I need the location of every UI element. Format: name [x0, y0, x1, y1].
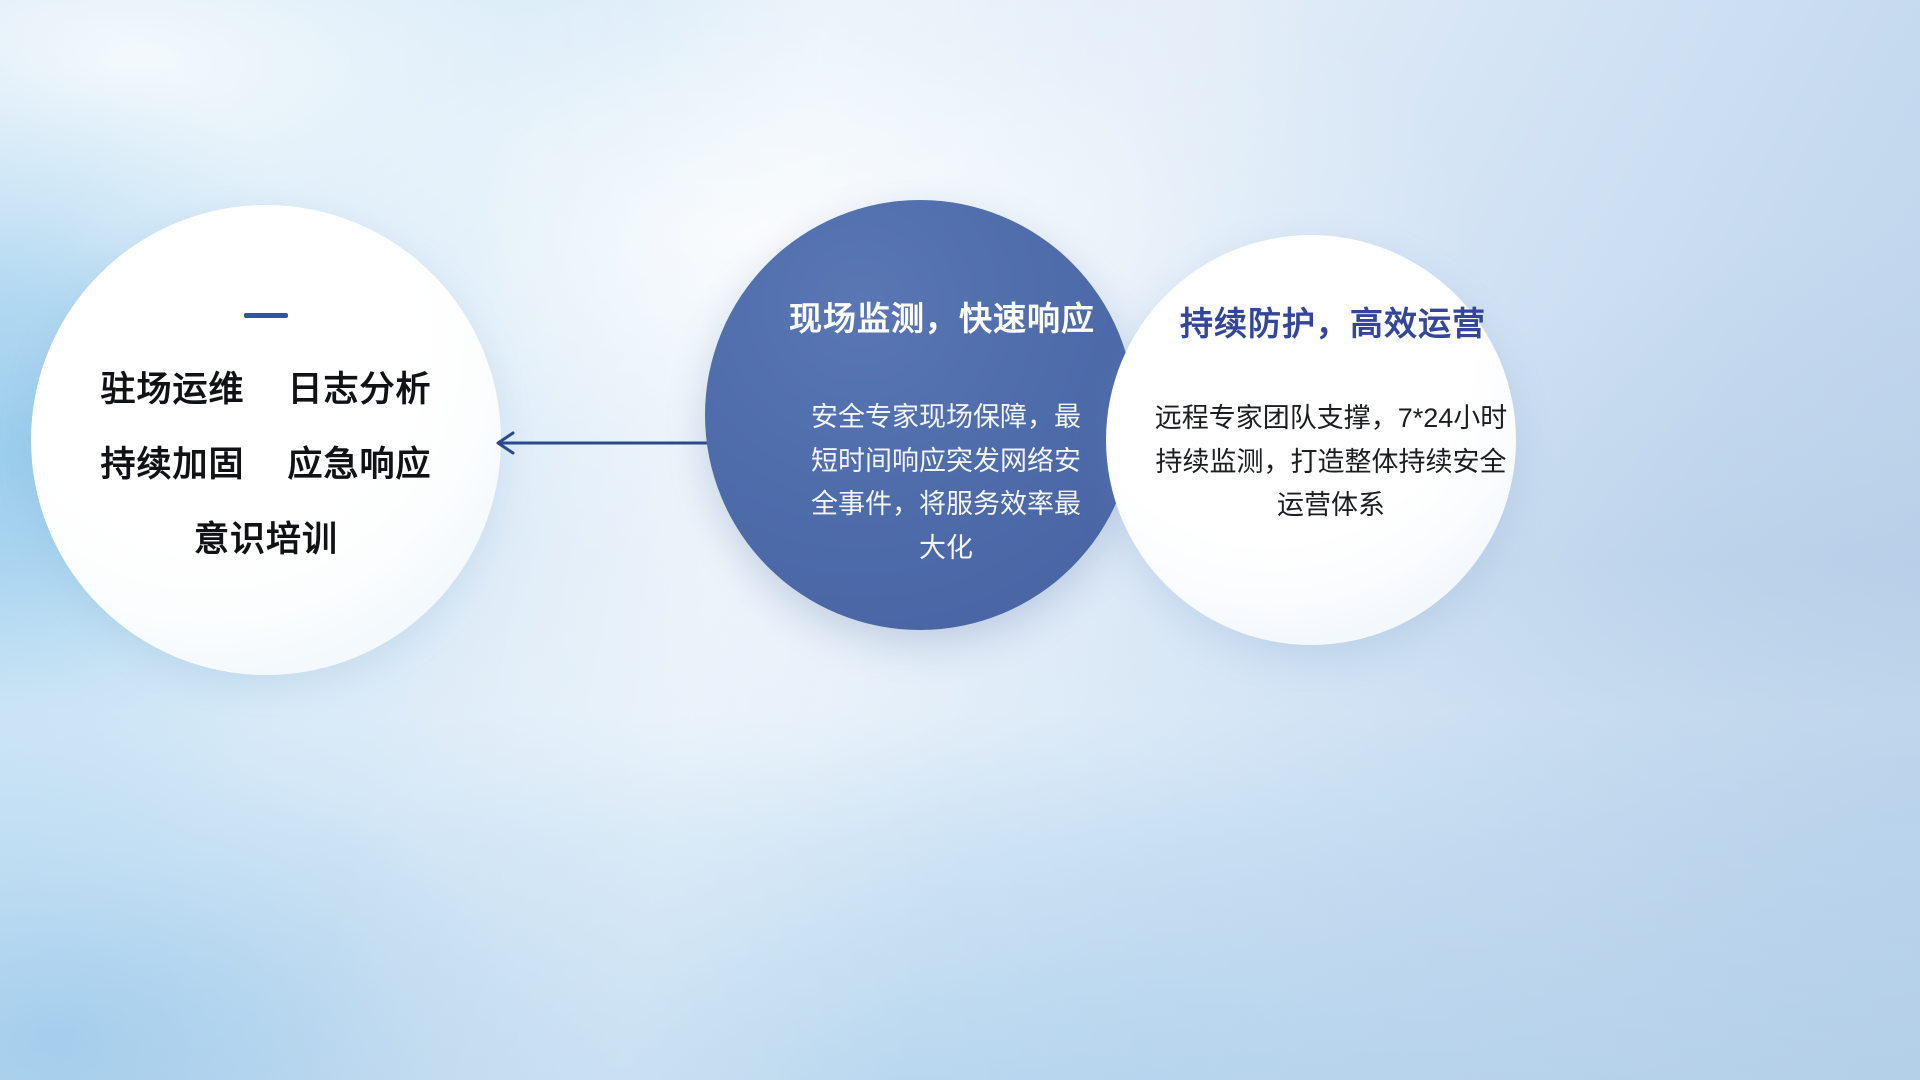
continuous-protection-circle[interactable]: 持续防护，高效运营 远程专家团队支撑，7*24小时持续监测，打造整体持续安全运营… — [1106, 235, 1516, 645]
continuous-protection-body: 远程专家团队支撑，7*24小时持续监测，打造整体持续安全运营体系 — [1153, 397, 1509, 528]
capability-line-2: 持续加固 应急响应 — [66, 447, 466, 484]
onsite-response-circle[interactable]: 现场监测，快速响应 安全专家现场保障，最短时间响应突发网络安全事件，将服务效率最… — [705, 200, 1135, 630]
onsite-response-title: 现场监测，快速响应 — [789, 292, 1095, 340]
capabilities-circle[interactable]: 驻场运维 日志分析 持续加固 应急响应 意识培训 — [31, 205, 501, 675]
capabilities-content: 驻场运维 日志分析 持续加固 应急响应 意识培训 — [66, 313, 466, 558]
title-divider-rule — [244, 313, 288, 318]
continuous-protection-title: 持续防护，高效运营 — [1180, 297, 1486, 345]
diagram-canvas: 驻场运维 日志分析 持续加固 应急响应 意识培训 现场监测，快速响应 安全专家现… — [0, 0, 1920, 1080]
capability-line-1: 驻场运维 日志分析 — [66, 372, 466, 409]
onsite-response-body: 安全专家现场保障，最短时间响应突发网络安全事件，将服务效率最大化 — [801, 396, 1091, 571]
capability-line-3: 意识培训 — [66, 522, 466, 559]
